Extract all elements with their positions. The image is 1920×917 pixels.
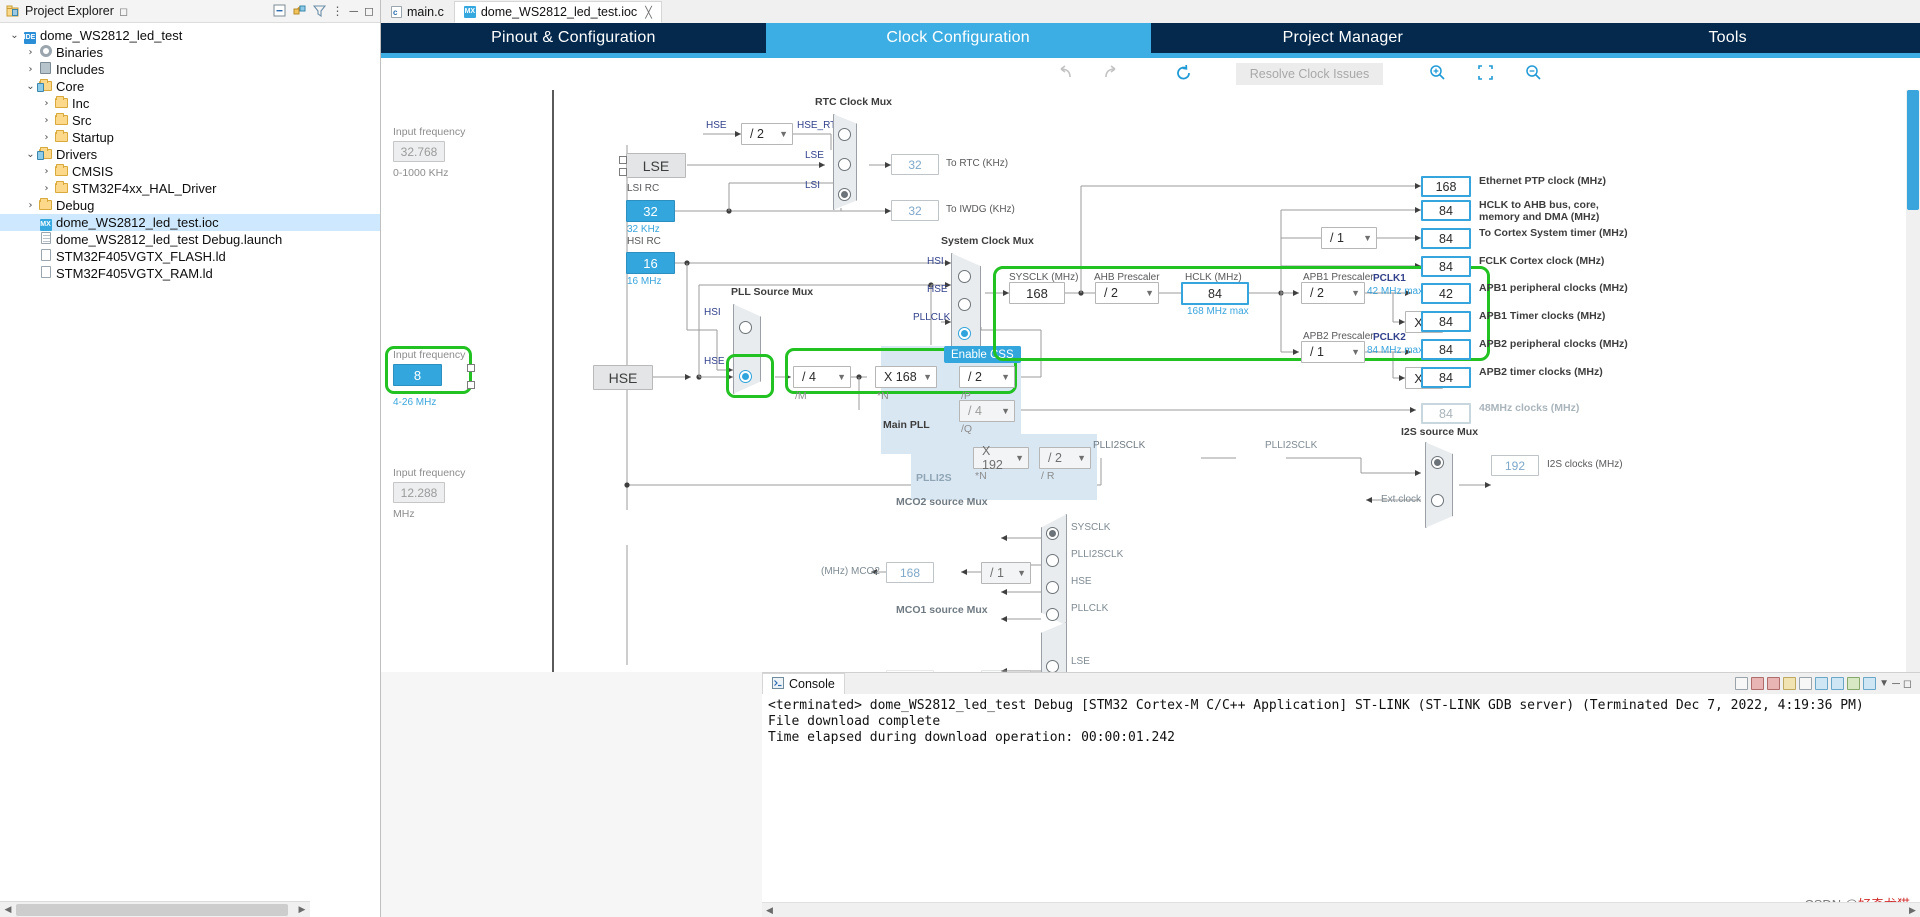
lse-input-frequency-group: Input frequency 32.768 0-1000 KHz (393, 126, 465, 179)
tree-item[interactable]: ›Includes (0, 61, 380, 78)
twisty-icon[interactable]: ⌄ (8, 30, 21, 41)
plli2s-n-label: *N (975, 470, 987, 482)
sysclk-mux-hsi-label: HSI (927, 256, 944, 267)
chevron-down-icon: ▼ (1001, 406, 1010, 416)
clock-diagram-canvas[interactable]: Input frequency 32.768 0-1000 KHz LSE HS… (381, 90, 1920, 672)
clock-output-label: HCLK to AHB bus, core, memory and DMA (M… (1479, 199, 1669, 223)
tree-item-label: Drivers (54, 147, 97, 162)
tree-item-label: STM32F4xx_HAL_Driver (70, 181, 217, 196)
tab-project-manager[interactable]: Project Manager (1151, 23, 1536, 53)
twisty-icon[interactable]: › (24, 47, 37, 58)
console-toolbar[interactable]: ▼ ─ ◻ (1735, 677, 1920, 690)
i2s-input-frequency-label: Input frequency (393, 467, 465, 479)
ide-project-icon: IDE (24, 32, 36, 44)
clock-output-value[interactable]: 84 (1421, 403, 1471, 424)
pclk1-max-label: 42 MHz max (1367, 286, 1423, 297)
tab-label: Pinout & Configuration (491, 29, 656, 47)
system-clock-mux-title: System Clock Mux (941, 235, 1034, 247)
value: X 168 (884, 370, 917, 384)
linker-script-icon (41, 266, 51, 278)
mco1-label-lse: LSE (1071, 656, 1090, 667)
console-tab-bar: Console ▼ ─ ◻ (762, 673, 1920, 694)
minimize-console-icon[interactable]: ─ (1892, 678, 1900, 690)
chevron-down-icon: ▼ (779, 129, 788, 139)
pll-m-label: /M (795, 390, 807, 402)
pin-console-icon[interactable] (1815, 677, 1828, 690)
folder-icon (39, 200, 52, 210)
console-menu-icon[interactable]: ▼ (1879, 678, 1889, 689)
lse-input-frequency-field[interactable]: 32.768 (393, 141, 445, 162)
resolve-button-label: Resolve Clock Issues (1250, 67, 1370, 81)
twisty-icon[interactable]: › (40, 183, 53, 194)
editor-tab-ioc[interactable]: MX dome_WS2812_led_test.ioc ╳ (454, 1, 662, 23)
console-status-line: <terminated> dome_WS2812_led_test Debug … (768, 698, 1914, 714)
mco2-source-mux-title: MCO2 source Mux (896, 496, 988, 508)
i2s-mux-option-plli2sclk[interactable] (1431, 456, 1444, 469)
cortex-prescaler-select[interactable]: / 1▼ (1321, 227, 1377, 249)
value: / 2 (1104, 286, 1118, 300)
rtc-mux-lse-label: LSE (805, 150, 824, 161)
plli2s-n-multiplier[interactable]: X 192▼ (973, 447, 1029, 469)
tree-item[interactable]: ›Binaries (0, 44, 380, 61)
plli2s-r-label: / R (1041, 470, 1054, 482)
value: / 2 (1310, 286, 1324, 300)
mco2-value[interactable]: 168 (886, 562, 934, 583)
mco2-option-hse[interactable] (1046, 581, 1059, 594)
hse-input-frequency-field[interactable]: 8 (393, 364, 442, 386)
pll-p-divider[interactable]: / 2▼ (959, 366, 1015, 388)
cubemx-file-icon: MX (40, 219, 52, 231)
folder-icon (55, 183, 68, 193)
tree-item-label: Binaries (54, 45, 103, 60)
console-line: File download complete (768, 714, 1914, 730)
view-filter-icon[interactable] (313, 4, 326, 19)
binaries-icon (40, 45, 52, 57)
clock-output-label: APB2 timer clocks (MHz) (1479, 366, 1669, 378)
mco1-source-mux-title: MCO1 source Mux (896, 604, 988, 616)
chevron-down-icon: ▼ (1351, 288, 1360, 298)
clock-output-value[interactable]: 84 (1421, 367, 1471, 388)
rtc-output-label: To RTC (KHz) (946, 158, 1008, 169)
tree-item[interactable]: ›Startup (0, 129, 380, 146)
sysclk-value[interactable]: 168 (1009, 282, 1065, 304)
tab-label: Clock Configuration (886, 29, 1029, 47)
chevron-down-icon: ▼ (1145, 288, 1154, 298)
chevron-down-icon: ▼ (1001, 372, 1010, 382)
clear-console-icon[interactable] (1783, 677, 1796, 690)
lsi-caption: LSI RC (627, 183, 659, 194)
mco2-label-hse: HSE (1071, 576, 1092, 587)
clock-output-label: APB2 peripheral clocks (MHz) (1479, 338, 1669, 350)
i2s-input-plli2sclk-label: PLLI2SCLK (1265, 440, 1317, 451)
rtc-hse-divider[interactable]: / 2▼ (741, 123, 793, 145)
hse-pin-bottom (467, 381, 475, 389)
lsi-unit: 32 KHz (627, 224, 660, 235)
source-folder-icon (39, 149, 52, 159)
chevron-down-icon: ▼ (1363, 233, 1372, 243)
value: X 192 (982, 444, 1009, 472)
lse-pin-top (619, 156, 627, 164)
main-pll-title: Main PLL (883, 419, 930, 431)
tree-item[interactable]: ›CMSIS (0, 163, 380, 180)
rtc-hse-label: HSE (706, 120, 727, 131)
launch-file-icon (41, 232, 51, 244)
value: / 4 (968, 404, 982, 418)
pll-m-divider[interactable]: / 4▼ (793, 366, 851, 388)
chevron-down-icon: ▼ (1017, 568, 1026, 578)
value: / 1 (990, 566, 1004, 580)
twisty-icon[interactable]: ⌄ (24, 81, 37, 92)
plli2s-r-divider[interactable]: / 2▼ (1039, 447, 1091, 469)
fit-to-window-icon[interactable] (1461, 64, 1509, 85)
project-explorer-view: Project Explorer ◻ ⋮ ─ ◻ ⌄IDEdome_WS2812… (0, 0, 381, 917)
includes-icon (40, 62, 51, 74)
scroll-left-arrow-icon[interactable]: ◀ (0, 904, 16, 915)
pll-source-mux-title: PLL Source Mux (731, 286, 813, 298)
rtc-mux-option-hse[interactable] (838, 128, 851, 141)
pll-source-hse-highlight (726, 354, 774, 398)
pll-mux-hsi-label: HSI (704, 307, 721, 318)
i2s-source-mux-title: I2S source Mux (1401, 426, 1478, 438)
lse-block[interactable]: LSE (626, 153, 686, 178)
terminate-icon[interactable] (1735, 677, 1748, 690)
hsi-unit: 16 MHz (627, 276, 661, 287)
linker-script-icon (41, 249, 51, 261)
tree-item-label: dome_WS2812_led_test Debug.launch (54, 232, 282, 247)
console-output[interactable]: <terminated> dome_WS2812_led_test Debug … (762, 694, 1920, 750)
hse-range-label: 4-26 MHz (393, 397, 436, 408)
rtc-mux-option-lse[interactable] (838, 158, 851, 171)
iwdg-output-label: To IWDG (KHz) (946, 204, 1015, 215)
chevron-down-icon: ▼ (1077, 453, 1086, 463)
tree-item[interactable]: ⌄IDEdome_WS2812_led_test (0, 27, 380, 44)
chevron-down-icon: ▼ (1015, 453, 1024, 463)
i2s-output-value[interactable]: 192 (1491, 455, 1539, 476)
i2s-input-frequency-field[interactable]: 12.288 (393, 482, 445, 503)
mco2-output-label: (MHz) MCO2 (821, 566, 880, 577)
chevron-down-icon: ▼ (923, 372, 932, 382)
remove-launch-icon[interactable] (1751, 677, 1764, 690)
tree-item[interactable]: ›Inc (0, 95, 380, 112)
value: / 1 (1310, 345, 1324, 359)
close-icon[interactable]: ╳ (645, 6, 652, 19)
project-explorer-icon (6, 5, 20, 18)
chevron-down-icon: ▼ (1351, 347, 1360, 357)
explorer-horizontal-scrollbar[interactable]: ◀ ▶ (0, 901, 310, 917)
console-line: Time elapsed during download operation: … (768, 730, 1914, 746)
lse-pin-bottom (619, 168, 627, 176)
value: / 2 (1048, 451, 1062, 465)
pll-q-divider[interactable]: / 4▼ (959, 400, 1015, 422)
rtc-mux-option-lsi[interactable] (838, 188, 851, 201)
pll-mux-option-hsi[interactable] (739, 321, 752, 334)
editor-tab-bar: main.c MX dome_WS2812_led_test.ioc ╳ (381, 0, 1920, 23)
hse-pin-top (467, 364, 475, 372)
tab-pinout-configuration[interactable]: Pinout & Configuration (381, 23, 766, 53)
scroll-right-arrow-icon[interactable]: ▶ (1905, 905, 1920, 916)
twisty-icon[interactable]: › (40, 115, 53, 126)
twisty-icon[interactable]: › (40, 98, 53, 109)
hse-input-frequency-label: Input frequency (393, 349, 465, 361)
tree-item[interactable]: ›STM32F4xx_HAL_Driver (0, 180, 380, 197)
scroll-thumb[interactable] (16, 904, 288, 916)
console-icon (772, 677, 784, 692)
sysclk-mux-option-hse[interactable] (958, 298, 971, 311)
sysclk-mux-option-hsi[interactable] (958, 270, 971, 283)
clock-output-value[interactable]: 84 (1421, 228, 1471, 249)
apb1-prescaler-select[interactable]: / 2▼ (1301, 282, 1365, 304)
editor-tab-label: dome_WS2812_led_test.ioc (481, 5, 637, 19)
tree-item[interactable]: STM32F405VGTX_RAM.ld (0, 265, 380, 282)
clock-output-value[interactable]: 42 (1421, 283, 1471, 304)
pll-n-multiplier[interactable]: X 168▼ (875, 366, 937, 388)
tab-tools[interactable]: Tools (1535, 23, 1920, 53)
resolve-clock-issues-button[interactable]: Resolve Clock Issues (1236, 63, 1384, 85)
sysclk-mux-hse-label: HSE (927, 284, 948, 295)
tree-item[interactable]: ⌄Core (0, 78, 380, 95)
scroll-lock-icon[interactable] (1799, 677, 1812, 690)
value: / 2 (750, 127, 764, 141)
clock-output-value[interactable]: 84 (1421, 339, 1471, 360)
plli2s-title: PLLI2S (916, 472, 952, 484)
apb2-prescaler-select[interactable]: / 1▼ (1301, 341, 1365, 363)
pclk2-label: PCLK2 (1373, 332, 1406, 343)
cubemx-file-icon: MX (464, 6, 476, 18)
i2s-input-frequency-group: Input frequency 12.288 MHz (393, 467, 465, 520)
clock-output-label: 48MHz clocks (MHz) (1479, 402, 1669, 414)
hclk-value[interactable]: 84 (1181, 282, 1249, 305)
clock-output-value[interactable]: 168 (1421, 176, 1471, 197)
console-horizontal-scrollbar[interactable]: ◀ ▶ (762, 902, 1920, 917)
refresh-icon[interactable] (1162, 64, 1206, 85)
tree-item-label: Debug (54, 198, 94, 213)
twisty-icon[interactable]: › (40, 132, 53, 143)
clock-toolbar: Resolve Clock Issues (381, 58, 1920, 90)
view-menu-icon[interactable]: ⋮ (332, 5, 344, 17)
chevron-down-icon: ▼ (837, 372, 846, 382)
tree-item[interactable]: dome_WS2812_led_test Debug.launch (0, 231, 380, 248)
mco2-option-pllclk[interactable] (1046, 608, 1059, 621)
open-console-icon[interactable] (1847, 677, 1860, 690)
console-tab-label: Console (789, 677, 835, 691)
twisty-icon[interactable]: › (24, 200, 37, 211)
project-explorer-header: Project Explorer ◻ ⋮ ─ ◻ (0, 0, 380, 23)
zoom-in-icon[interactable] (1413, 64, 1461, 85)
twisty-icon[interactable]: ⌄ (24, 149, 37, 160)
pll-mux-hse-label: HSE (704, 356, 725, 367)
project-tree[interactable]: ⌄IDEdome_WS2812_led_test›Binaries›Includ… (0, 23, 380, 282)
clock-output-value[interactable]: 84 (1421, 200, 1471, 221)
tree-item-label: Src (70, 113, 92, 128)
mco2-label-pllclk: PLLCLK (1071, 603, 1108, 614)
ahb-prescaler-select[interactable]: / 2▼ (1095, 282, 1159, 304)
maximize-view-icon[interactable]: ◻ (364, 5, 374, 17)
tree-item-label: STM32F405VGTX_FLASH.ld (54, 249, 226, 264)
tree-item-label: CMSIS (70, 164, 113, 179)
i2s-input-extclock-label: Ext.clock (1381, 494, 1421, 505)
pclk2-max-label: 84 MHz max (1367, 345, 1423, 356)
mco2-label-sysclk: SYSCLK (1071, 522, 1110, 533)
undo-icon[interactable] (1044, 65, 1088, 84)
i2s-mux-option-extclock[interactable] (1431, 494, 1444, 507)
clock-output-value[interactable]: 84 (1421, 311, 1471, 332)
clock-output-label: Ethernet PTP clock (MHz) (1479, 175, 1669, 187)
tree-item-label: STM32F405VGTX_RAM.ld (54, 266, 213, 281)
mco2-label-plli2sclk: PLLI2SCLK (1071, 549, 1123, 560)
editor-tab-main-c[interactable]: main.c (381, 1, 454, 23)
i2s-input-unit: MHz (393, 508, 465, 520)
clock-output-label: To Cortex System timer (MHz) (1479, 227, 1669, 239)
scroll-track[interactable] (16, 902, 294, 917)
tab-label: Project Manager (1283, 29, 1403, 47)
tree-item-label: Includes (54, 62, 104, 77)
tree-item-label: dome_WS2812_led_test.ioc (54, 215, 219, 230)
hse-input-frequency-group: Input frequency 8 (393, 349, 465, 386)
tree-item[interactable]: ⌄Drivers (0, 146, 380, 163)
folder-icon (55, 166, 68, 176)
tree-item-label: Inc (70, 96, 89, 111)
source-folder-icon (39, 81, 52, 91)
hsi-caption: HSI RC (627, 236, 661, 247)
editor-area: main.c MX dome_WS2812_led_test.ioc ╳ Pin… (381, 0, 1920, 917)
mco2-option-plli2sclk[interactable] (1046, 554, 1059, 567)
tab-label: Tools (1708, 29, 1746, 47)
pll-q-label: /Q (961, 423, 972, 435)
hse-block[interactable]: HSE (593, 365, 653, 390)
lsi-value[interactable]: 32 (626, 200, 675, 222)
rtc-mux-lsi-label: LSI (805, 180, 820, 191)
cubemx-nav-tabs[interactable]: Pinout & Configuration Clock Configurati… (381, 23, 1920, 53)
canvas-vertical-scrollbar[interactable] (1906, 90, 1920, 672)
folder-icon (55, 115, 68, 125)
c-source-icon (391, 6, 402, 18)
sysclk-mux-option-pllclk[interactable] (958, 327, 971, 340)
link-with-editor-icon[interactable] (293, 4, 307, 19)
plli2s-out-label: PLLI2SCLK (1093, 440, 1145, 451)
zoom-out-icon[interactable] (1509, 64, 1557, 85)
clock-output-label: APB1 peripheral clocks (MHz) (1479, 282, 1669, 294)
display-selected-console-icon[interactable] (1831, 677, 1844, 690)
collapse-all-icon[interactable] (273, 4, 287, 19)
scroll-thumb[interactable] (1907, 90, 1919, 210)
tree-item[interactable]: STM32F405VGTX_FLASH.ld (0, 248, 380, 265)
tab-clock-configuration[interactable]: Clock Configuration (766, 23, 1151, 53)
tree-item[interactable]: ›Debug (0, 197, 380, 214)
tree-item-label: Core (54, 79, 84, 94)
twisty-icon[interactable]: › (24, 64, 37, 75)
minimize-view-icon[interactable]: ─ (350, 5, 359, 17)
folder-icon (55, 132, 68, 142)
twisty-icon[interactable]: › (40, 166, 53, 177)
rtc-clock-mux-title: RTC Clock Mux (815, 96, 892, 108)
remove-all-icon[interactable] (1767, 677, 1780, 690)
lse-range-label: 0-1000 KHz (393, 167, 465, 179)
editor-tab-label: main.c (407, 5, 444, 19)
lse-input-frequency-label: Input frequency (393, 126, 465, 138)
rtc-output-value[interactable]: 32 (891, 154, 939, 175)
mco1-option-lse[interactable] (1046, 660, 1059, 672)
tree-item-label: dome_WS2812_led_test (38, 28, 182, 43)
pclk1-label: PCLK1 (1373, 273, 1406, 284)
clock-output-value[interactable]: 84 (1421, 256, 1471, 277)
i2s-source-mux[interactable] (1425, 442, 1453, 528)
clock-output-label: FCLK Cortex clock (MHz) (1479, 255, 1669, 267)
iwdg-output-value[interactable]: 32 (891, 200, 939, 221)
hclk-max-label: 168 MHz max (1187, 306, 1249, 317)
tree-item[interactable]: ›Src (0, 112, 380, 129)
console-view: Console ▼ ─ ◻ <termina (762, 672, 1920, 917)
value: / 4 (802, 370, 816, 384)
new-console-view-icon[interactable] (1863, 677, 1876, 690)
project-explorer-title: Project Explorer (25, 4, 114, 18)
view-restore-icon[interactable]: ◻ (119, 5, 128, 18)
scroll-right-arrow-icon[interactable]: ▶ (294, 904, 310, 915)
sysclk-mux-pllclk-label: PLLCLK (913, 312, 950, 323)
i2s-output-label: I2S clocks (MHz) (1547, 459, 1623, 470)
mco2-option-sysclk[interactable] (1046, 527, 1059, 540)
tree-item-label: Startup (70, 130, 114, 145)
folder-icon (55, 98, 68, 108)
maximize-console-icon[interactable]: ◻ (1903, 677, 1912, 690)
hsi-value[interactable]: 16 (626, 252, 675, 274)
pll-n-label: *N (877, 390, 889, 402)
clock-output-label: APB1 Timer clocks (MHz) (1479, 310, 1669, 322)
value: / 2 (968, 370, 982, 384)
scroll-left-arrow-icon[interactable]: ◀ (762, 905, 777, 916)
value: / 1 (1330, 231, 1344, 245)
mco2-divider[interactable]: / 1▼ (981, 562, 1031, 584)
tree-item[interactable]: MXdome_WS2812_led_test.ioc (0, 214, 380, 231)
tab-console[interactable]: Console (762, 673, 845, 694)
redo-icon[interactable] (1088, 65, 1132, 84)
